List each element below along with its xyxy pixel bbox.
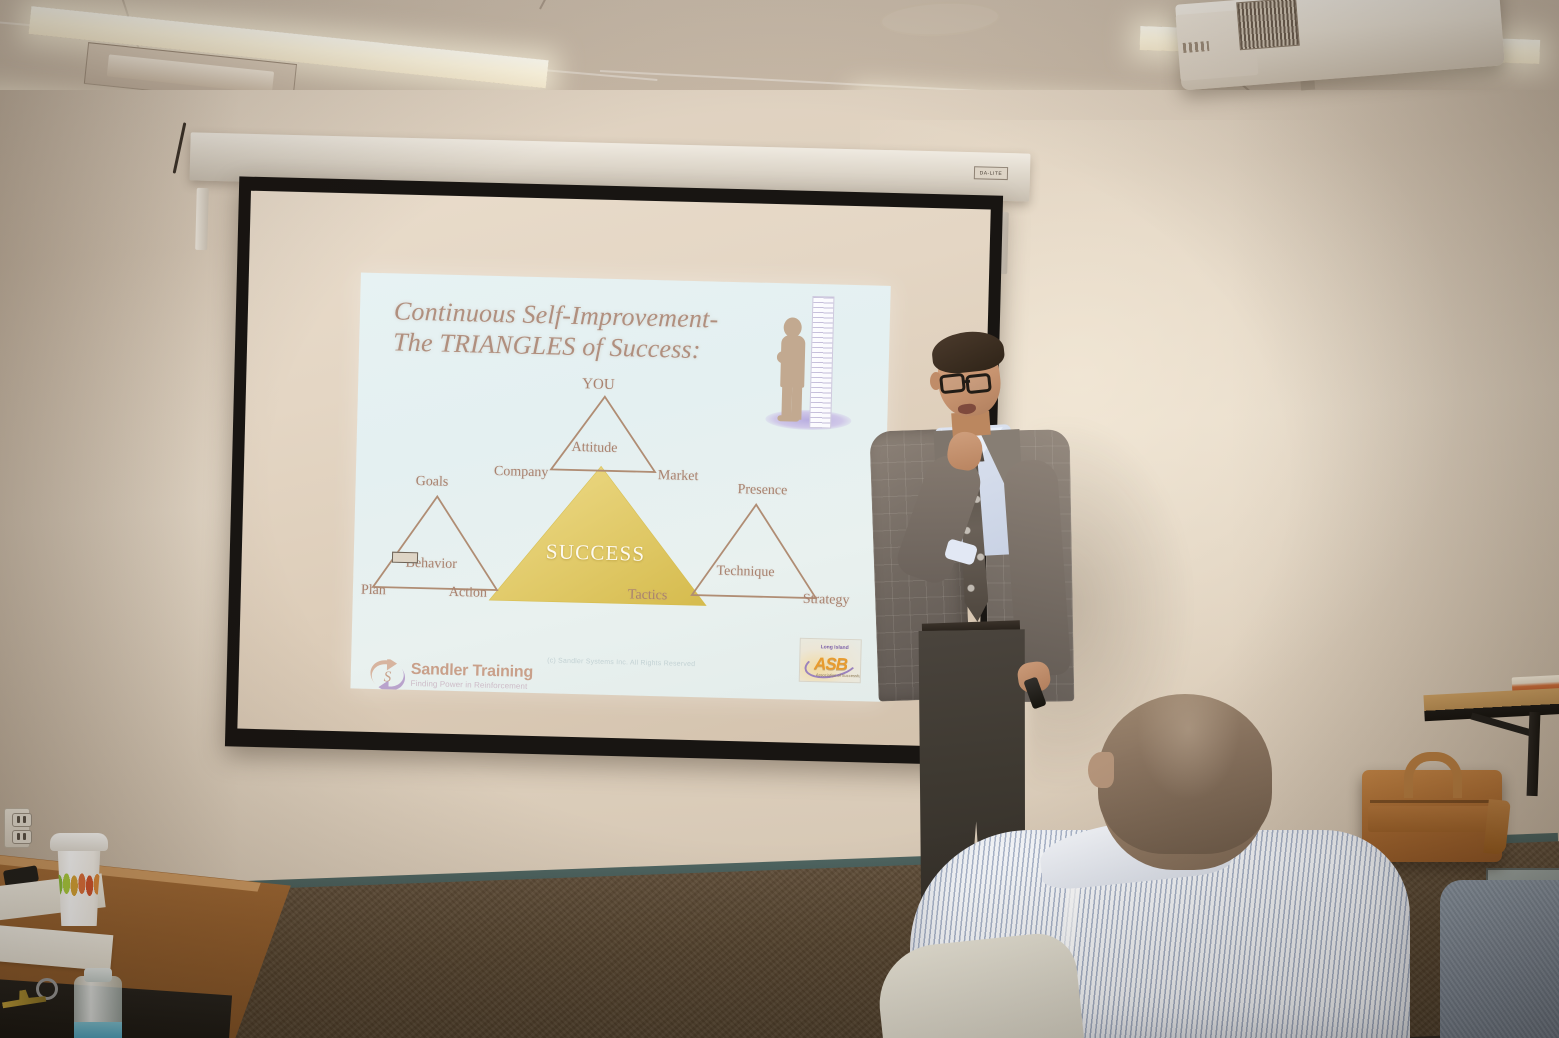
housing-brand-label: DA-LITE: [974, 166, 1008, 180]
measuring-ruler: [809, 296, 834, 429]
projector-vent-grille: [1236, 0, 1300, 50]
technique-triangle-shape: [692, 503, 818, 598]
label-success: SUCCESS: [546, 539, 646, 567]
svg-text:S: S: [384, 669, 392, 685]
upholstered-chair[interactable]: [1440, 880, 1559, 1038]
sandler-tagline: Finding Power in Reinforcement: [410, 679, 527, 691]
asb-partner-logo: Long Island ASB Association of Successfu…: [799, 638, 862, 684]
smoke-detector-icon: [879, 0, 1001, 39]
asb-logo-top-text: Long Island: [821, 644, 849, 651]
label-goals: Goals: [415, 474, 448, 491]
label-technique: Technique: [716, 564, 774, 581]
coffee-cup-lid[interactable]: [50, 833, 108, 851]
label-company: Company: [494, 464, 549, 481]
slide-title: Continuous Self-Improvement- The TRIANGL…: [393, 295, 719, 365]
seated-attendee: [930, 690, 1490, 1038]
water-bottle-label: [74, 1022, 122, 1038]
projected-slide: Continuous Self-Improvement- The TRIANGL…: [350, 273, 890, 702]
conference-room-scene: DA-LITE Continuous Self-Improvement- The…: [0, 0, 1559, 1038]
you-triangle-shape: [551, 395, 657, 472]
slide-copyright: (c) Sandler Systems Inc. All Rights Rese…: [547, 657, 695, 668]
projector-status-leds: [1183, 41, 1210, 53]
label-attitude: Attitude: [571, 440, 617, 457]
sandler-logo: S Sandler Training Finding Power in Rein…: [368, 659, 539, 697]
electrical-outlet: [4, 808, 30, 848]
attendee-hair: [1098, 694, 1272, 854]
attendee-ear: [1088, 752, 1114, 788]
water-bottle-cap[interactable]: [84, 968, 112, 982]
label-market: Market: [658, 468, 699, 485]
screen-bracket: [195, 188, 209, 250]
person-with-measuring-ruler-graphic: [761, 295, 875, 438]
key-ring[interactable]: [36, 978, 58, 1000]
sandler-logo-icon: S: [368, 659, 409, 694]
label-strategy: Strategy: [803, 592, 850, 609]
label-tactics: Tactics: [628, 587, 668, 604]
label-action: Action: [449, 585, 488, 602]
coffee-cup-leaf-pattern: [55, 868, 103, 902]
eyeglasses-right-lens: [965, 373, 992, 395]
label-you: YOU: [582, 376, 615, 394]
eyeglasses-bridge: [964, 380, 970, 384]
behavior-triangle-shape: [373, 495, 499, 590]
label-presence: Presence: [737, 482, 787, 499]
eyeglasses-left-lens: [939, 373, 966, 395]
screen-bottom-label: [392, 552, 418, 564]
label-plan: Plan: [361, 583, 386, 600]
